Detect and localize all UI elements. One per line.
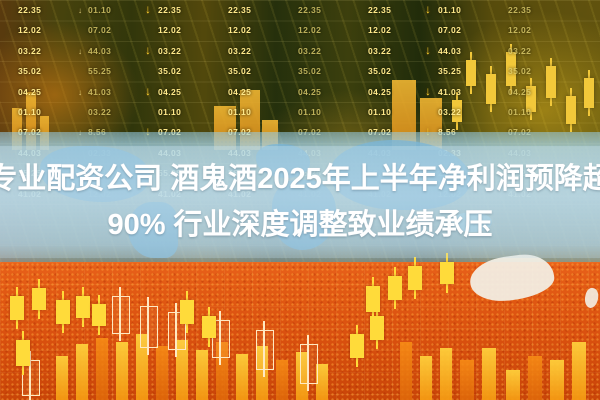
- filled-candle-body: [76, 296, 90, 318]
- hollow-candle-body: [140, 306, 158, 348]
- filled-candle-body: [440, 262, 454, 284]
- filled-candle-body: [408, 266, 422, 290]
- volume-bar: [236, 354, 248, 400]
- hollow-candle-body: [112, 296, 130, 334]
- volume-bar: [506, 370, 520, 400]
- volume-bar: [572, 342, 586, 400]
- volume-bar: [482, 348, 496, 400]
- volume-bar: [550, 360, 564, 400]
- volume-bar: [196, 350, 208, 400]
- volume-bar: [276, 360, 288, 400]
- filled-candle-body: [388, 276, 402, 300]
- filled-candle-body: [202, 316, 216, 338]
- hollow-candle-body: [300, 344, 318, 384]
- volume-bar: [528, 356, 542, 400]
- volume-bar: [116, 342, 128, 400]
- hollow-candle-body: [256, 330, 274, 370]
- volume-bar: [96, 338, 108, 400]
- volume-bar: [156, 346, 168, 400]
- filled-candle-body: [10, 296, 24, 320]
- news-thumbnail-image: 22.3512.0203.2235.0204.2501.1007.0244.03…: [0, 0, 600, 400]
- volume-bar: [440, 348, 452, 400]
- filled-candle-body: [350, 334, 364, 358]
- volume-bar: [460, 360, 474, 400]
- headline-backdrop-wash: [0, 146, 600, 258]
- volume-bar: [420, 356, 432, 400]
- volume-bar: [400, 342, 412, 400]
- filled-candle-body: [180, 300, 194, 324]
- volume-bar: [76, 344, 88, 400]
- filled-candle-body: [16, 340, 30, 366]
- filled-candle-body: [56, 300, 70, 324]
- filled-candle-body: [32, 288, 46, 310]
- filled-candle-body: [366, 286, 380, 312]
- filled-candle-body: [92, 304, 106, 326]
- volume-bar: [56, 356, 68, 400]
